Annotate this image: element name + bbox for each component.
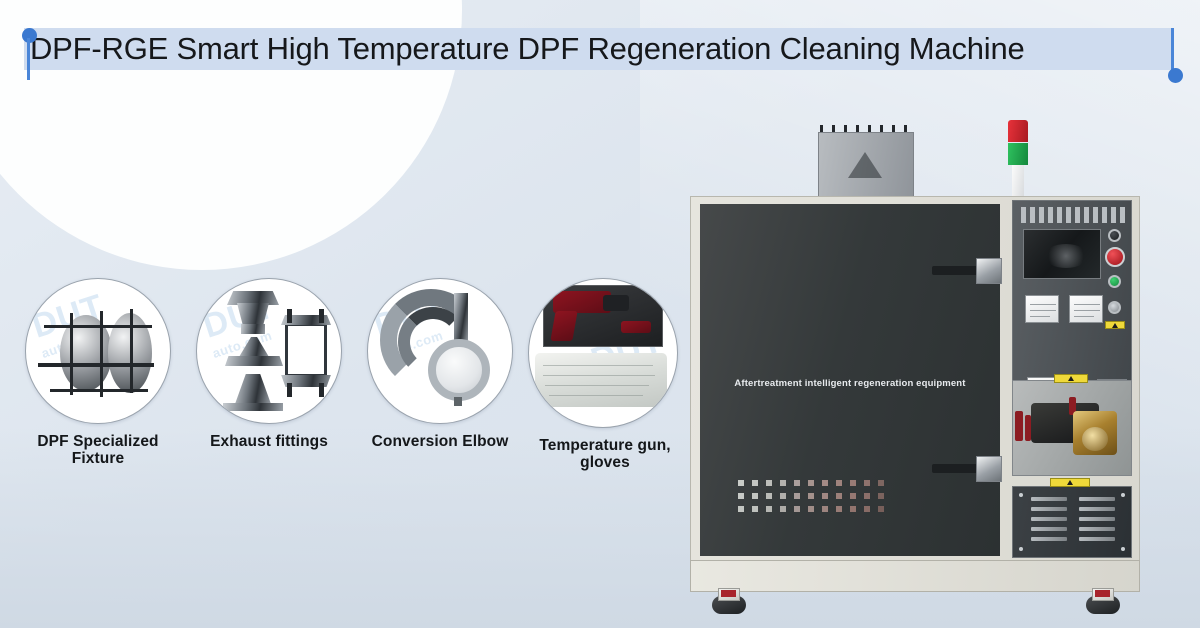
bracket-bolt-top-left xyxy=(287,309,292,323)
accessory-label: Conversion Elbow xyxy=(355,433,525,450)
temperature-meter[interactable] xyxy=(1025,295,1059,323)
page-title-area: DPF-RGE Smart High Temperature DPF Regen… xyxy=(0,24,1200,76)
green-indicator-light xyxy=(1008,143,1028,165)
fixture-post-center xyxy=(100,311,103,397)
accessory-label-line1: Conversion Elbow xyxy=(355,433,525,450)
bracket-bolt-bottom-right xyxy=(319,383,324,397)
mounting-bracket-frame xyxy=(285,323,327,377)
key-switch[interactable] xyxy=(1108,301,1121,314)
pump-nozzle xyxy=(1082,427,1108,451)
start-button[interactable] xyxy=(1108,275,1121,288)
exhaust-fittings-image: DUT auto.com xyxy=(196,278,342,424)
glove-crease-1 xyxy=(543,365,653,366)
accessory-label-line2: Fixture xyxy=(13,450,183,467)
door-latch-lower[interactable] xyxy=(932,456,1002,482)
heat-resistant-gloves xyxy=(535,353,667,407)
exhaust-flange-mid xyxy=(225,356,283,366)
mode-button[interactable] xyxy=(1108,229,1121,242)
pump-wire-left xyxy=(1015,411,1023,441)
brass-pump-housing xyxy=(1073,411,1117,455)
accessory-item-dpf-fixture[interactable]: DUT auto.com DPF Specialized Fixture xyxy=(25,278,183,468)
clamp-bolt xyxy=(454,397,462,406)
fixture-rod-bottom xyxy=(50,389,148,392)
glove-crease-3 xyxy=(545,385,649,386)
window-warning-label xyxy=(1054,374,1088,383)
accessory-label: DPF Specialized Fixture xyxy=(13,433,183,468)
chamber-door-text: Aftertreatment intelligent regeneration … xyxy=(700,378,1000,389)
elbow-end-flange xyxy=(454,293,468,345)
timer-meter[interactable] xyxy=(1069,295,1103,323)
caster-brake-lever-left[interactable] xyxy=(721,590,736,597)
exhaust-cone-bottom xyxy=(235,374,271,404)
emergency-stop-button[interactable] xyxy=(1105,247,1125,267)
fixture-rod-top xyxy=(44,325,152,328)
door-latch-upper[interactable] xyxy=(932,258,1002,284)
temperature-gun-and-gloves-image: DUT auto.com xyxy=(528,278,678,428)
accessory-item-conversion-elbow[interactable]: DUT auto.com Conversion Elbow xyxy=(367,278,525,450)
accessory-item-temperature-gun-gloves[interactable]: DUT auto.com Temperature gun, gloves xyxy=(528,278,694,472)
accessory-item-exhaust-fittings[interactable]: DUT auto.com Exhaust fittings xyxy=(196,278,354,450)
product-machine-image: Aftertreatment intelligent regeneration … xyxy=(690,108,1140,608)
selection-end-bar-icon xyxy=(1171,28,1174,72)
burner-inspection-window xyxy=(1012,380,1132,476)
caster-wheel-left xyxy=(712,588,746,614)
door-handle-lever-upper xyxy=(932,266,978,275)
grille-warning-label xyxy=(1050,478,1090,487)
accessory-label: Temperature gun, gloves xyxy=(516,437,694,472)
glove-crease-4 xyxy=(549,395,643,396)
door-perforation-grid xyxy=(738,480,903,514)
exhaust-cone-mid xyxy=(239,337,269,357)
panel-vent-slots xyxy=(1021,207,1125,223)
door-handle-lever-lower xyxy=(932,464,978,473)
exhaust-cone-top xyxy=(237,303,269,325)
ventilation-grille-panel xyxy=(1012,486,1132,558)
caster-wheel-right xyxy=(1086,588,1120,614)
fixture-rod-mid xyxy=(38,363,154,367)
dpf-specialized-fixture-image: DUT auto.com xyxy=(25,278,171,424)
conversion-elbow-image: DUT auto.com xyxy=(367,278,513,424)
accessory-label-line1: Exhaust fittings xyxy=(184,433,354,450)
door-latch-chrome-lower xyxy=(976,456,1002,482)
selection-start-handle[interactable] xyxy=(22,28,40,80)
temperature-gun-accessory xyxy=(621,321,651,333)
display-glow xyxy=(1044,244,1088,268)
exhaust-flange-bottom xyxy=(223,403,283,411)
accessory-label-line1: Temperature gun, xyxy=(516,437,694,454)
selection-start-bar-icon xyxy=(27,38,30,80)
fixture-post-right xyxy=(130,309,133,393)
caster-brake-lever-right[interactable] xyxy=(1095,590,1110,597)
control-display-screen[interactable] xyxy=(1023,229,1101,279)
temperature-gun-lens xyxy=(603,295,629,311)
fixture-post-left xyxy=(70,313,73,395)
bracket-bolt-bottom-left xyxy=(287,383,292,397)
accessory-label-line2: gloves xyxy=(516,454,694,471)
bracket-bolt-top-right xyxy=(319,309,324,323)
exhaust-flange-top xyxy=(227,291,279,305)
panel-warning-label xyxy=(1105,321,1125,329)
accessory-label-line1: DPF Specialized xyxy=(13,433,183,450)
warning-triangle-icon xyxy=(848,152,882,178)
red-indicator-light xyxy=(1008,120,1028,142)
v-band-clamp-ring xyxy=(428,339,490,401)
accessory-label: Exhaust fittings xyxy=(184,433,354,450)
selection-end-handle[interactable] xyxy=(1168,28,1186,86)
glove-crease-2 xyxy=(543,375,655,376)
page-title: DPF-RGE Smart High Temperature DPF Regen… xyxy=(30,30,1025,68)
selection-end-dot-icon xyxy=(1168,68,1183,83)
machine-base-plinth xyxy=(690,560,1140,592)
exhaust-pipe-top xyxy=(241,324,265,334)
door-latch-chrome-upper xyxy=(976,258,1002,284)
